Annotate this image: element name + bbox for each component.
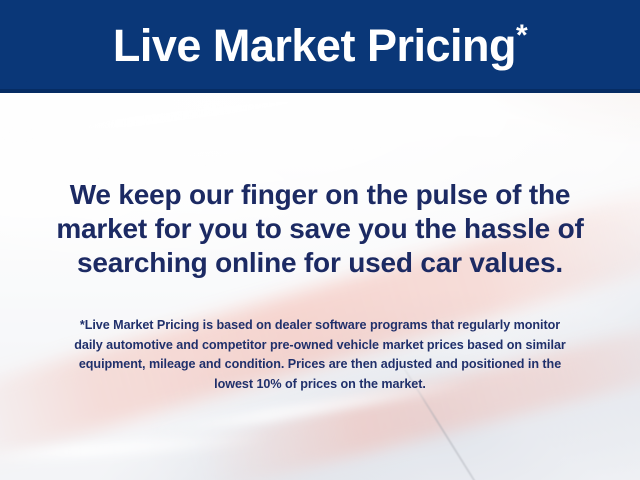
headline-line-3: searching online for used car values. <box>0 246 640 280</box>
fineprint-disclaimer: *Live Market Pricing is based on dealer … <box>0 316 640 394</box>
banner-title-asterisk: * <box>516 19 527 52</box>
header-banner: Live Market Pricing* <box>0 0 640 93</box>
banner-title: Live Market Pricing* <box>113 23 527 70</box>
banner-title-text: Live Market Pricing <box>113 20 516 71</box>
fineprint-line-3: equipment, mileage and condition. Prices… <box>0 355 640 375</box>
fineprint-line-4: lowest 10% of prices on the market. <box>0 375 640 395</box>
headline: We keep our finger on the pulse of the m… <box>0 178 640 280</box>
headline-line-1: We keep our finger on the pulse of the <box>0 178 640 212</box>
fineprint-line-2: daily automotive and competitor pre-owne… <box>0 336 640 356</box>
fineprint-line-1: *Live Market Pricing is based on dealer … <box>0 316 640 336</box>
headline-line-2: market for you to save you the hassle of <box>0 212 640 246</box>
live-market-pricing-card: Live Market Pricing* We keep our finger … <box>0 0 640 480</box>
